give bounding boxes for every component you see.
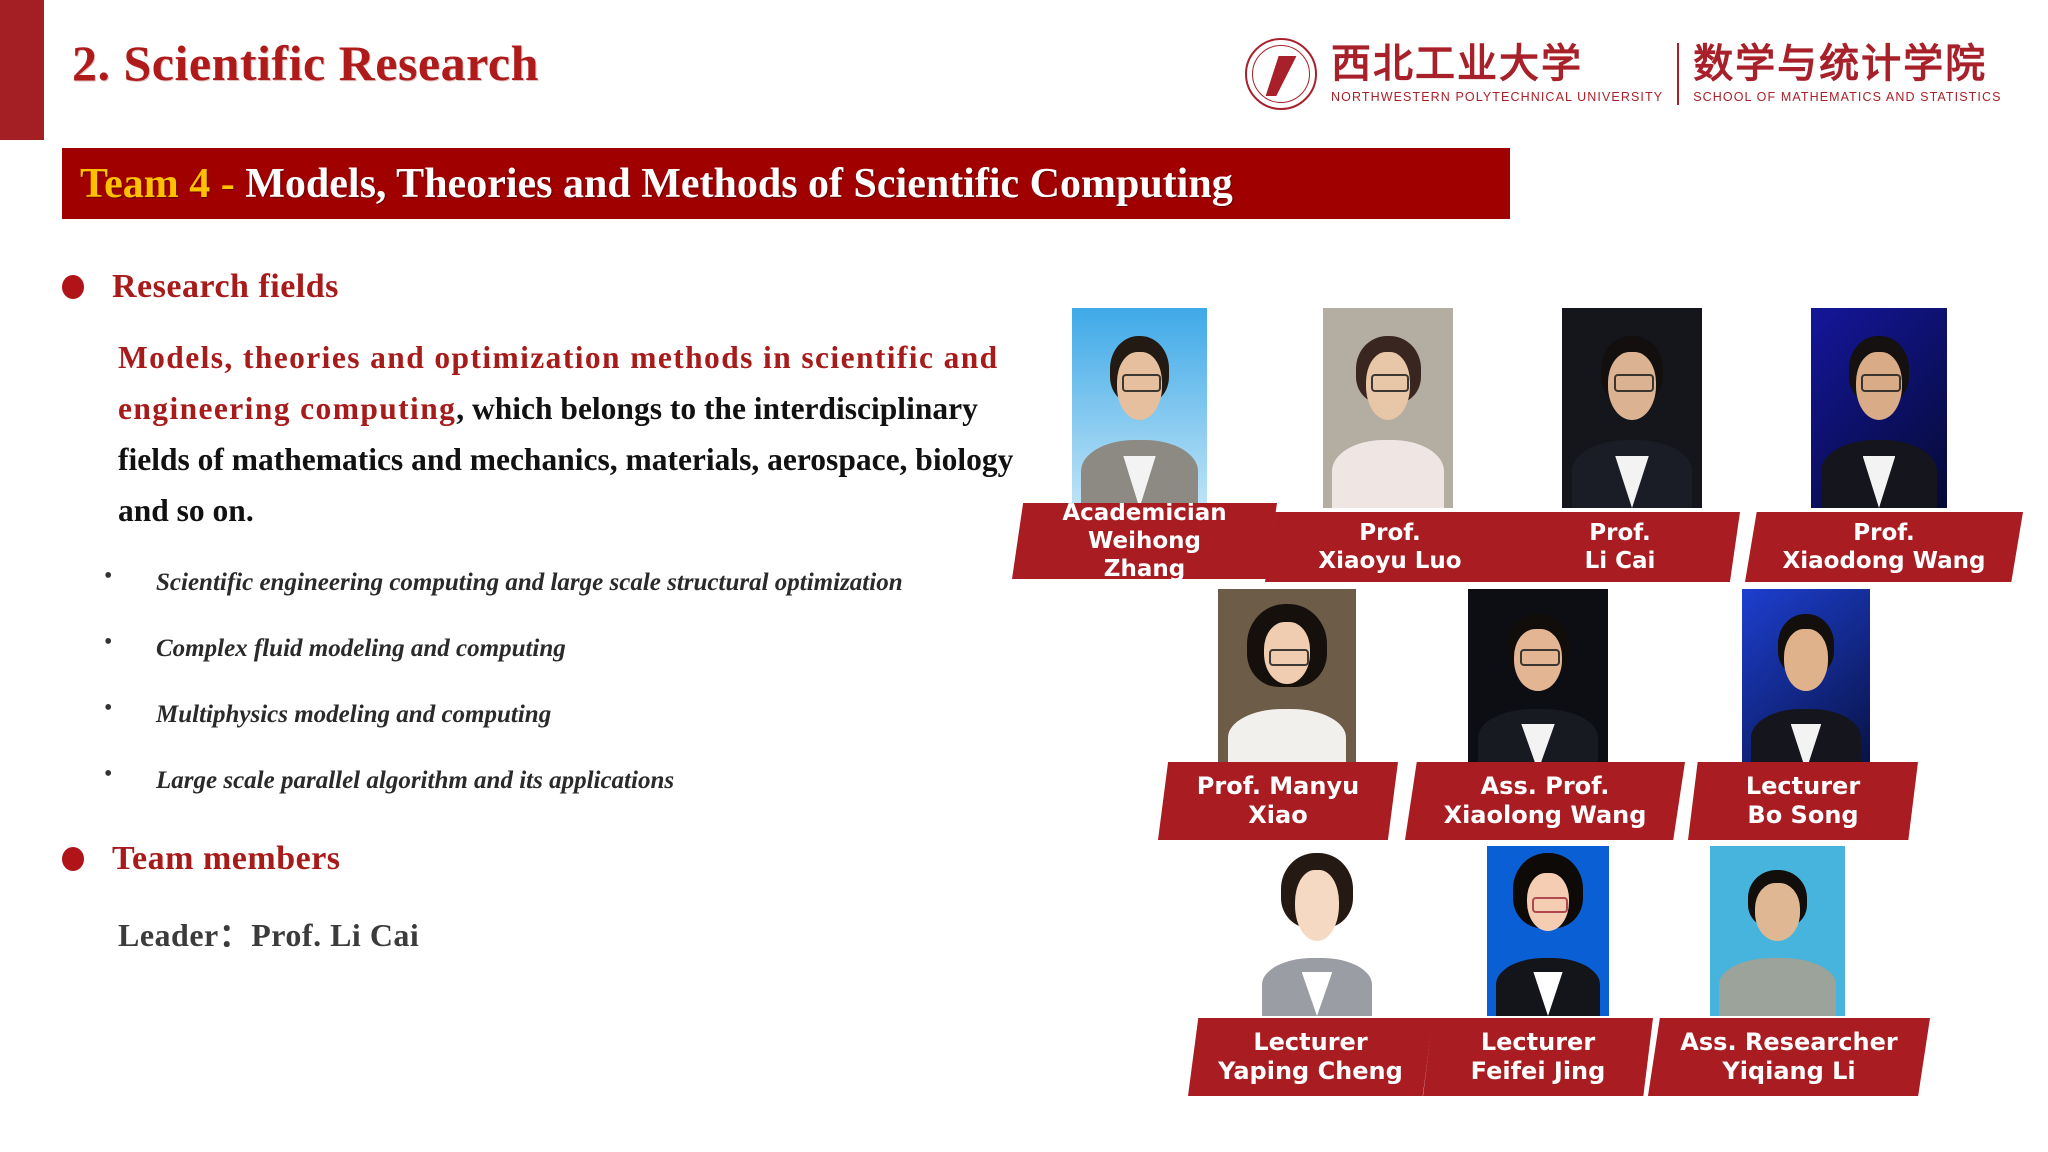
member-name-line: Lecturer <box>1481 1028 1595 1057</box>
team-title-label: Models, Theories and Methods of Scientif… <box>245 161 1232 207</box>
list-item: • Scientific engineering computing and l… <box>96 558 976 608</box>
member-name-line: Academician <box>1062 499 1226 527</box>
logo-school-block: 数学与统计学院 SCHOOL OF MATHEMATICS AND STATIS… <box>1693 44 2001 104</box>
member-name-banner: Lecturer Yaping Cheng <box>1188 1018 1433 1096</box>
logo-school-cn: 数学与统计学院 <box>1693 44 1987 84</box>
list-item: • Large scale parallel algorithm and its… <box>96 756 976 806</box>
member-name-line: Ass. Researcher <box>1680 1028 1897 1057</box>
member-name-banner: Academician Weihong Zhang <box>1012 503 1277 579</box>
member-name-banner: Ass. Prof. Xiaolong Wang <box>1405 762 1685 840</box>
member-photo <box>1218 589 1356 771</box>
research-fields-paragraph: Models, theories and optimization method… <box>118 332 1018 536</box>
member-photo <box>1811 308 1947 508</box>
logo-university-block: 西北工业大学 NORTHWESTERN POLYTECHNICAL UNIVER… <box>1331 44 1663 104</box>
logo-divider <box>1677 43 1679 105</box>
member-name-line: Xiaolong Wang <box>1444 801 1647 830</box>
member-name-line: Zhang <box>1104 555 1185 583</box>
logo-university-cn: 西北工业大学 <box>1331 44 1583 84</box>
list-bullet-icon: • <box>96 690 156 726</box>
member-name-line: Prof. <box>1359 519 1421 547</box>
research-fields-heading: Research fields <box>112 268 339 306</box>
team-number-label: Team 4 - <box>80 161 245 207</box>
member-name-line: Feifei Jing <box>1471 1057 1606 1086</box>
team-title-text: Team 4 - Models, Theories and Methods of… <box>62 160 1233 208</box>
member-name-line: Xiao <box>1248 801 1307 830</box>
bullet-dot-icon <box>62 275 84 299</box>
list-item-label: Scientific engineering computing and lar… <box>156 558 936 608</box>
team-leader-label: Leader：Prof. Li Cai <box>118 910 419 956</box>
member-name-line: Xiaoyu Luo <box>1318 547 1461 575</box>
logo-school-en: SCHOOL OF MATHEMATICS AND STATISTICS <box>1693 90 2001 104</box>
member-name-line: Ass. Prof. <box>1481 772 1610 801</box>
member-name-banner: Prof. Xiaoyu Luo <box>1265 512 1515 582</box>
member-photo <box>1468 589 1608 771</box>
list-bullet-icon: • <box>96 558 156 594</box>
team-title-band: Team 4 - Models, Theories and Methods of… <box>62 148 1510 219</box>
logo-university-en: NORTHWESTERN POLYTECHNICAL UNIVERSITY <box>1331 90 1663 104</box>
list-item-label: Large scale parallel algorithm and its a… <box>156 756 936 806</box>
member-name-line: Weihong <box>1088 527 1201 555</box>
member-photo <box>1323 308 1453 508</box>
member-name-line: Prof. Manyu <box>1197 772 1359 801</box>
research-topics-list: • Scientific engineering computing and l… <box>96 558 976 822</box>
member-name-line: Yiqiang Li <box>1722 1057 1855 1086</box>
member-photo <box>1253 846 1381 1016</box>
member-photo <box>1562 308 1702 508</box>
member-name-banner: Prof. Li Cai <box>1500 512 1740 582</box>
member-name-banner: Prof. Xiaodong Wang <box>1745 512 2023 582</box>
member-name-line: Lecturer <box>1253 1028 1367 1057</box>
member-photo <box>1710 846 1845 1016</box>
list-item: • Multiphysics modeling and computing <box>96 690 976 740</box>
list-item: • Complex fluid modeling and computing <box>96 624 976 674</box>
member-name-line: Yaping Cheng <box>1218 1057 1403 1086</box>
list-item-label: Complex fluid modeling and computing <box>156 624 936 674</box>
research-fields-heading-row: Research fields <box>62 268 339 306</box>
accent-bar <box>0 0 44 140</box>
member-name-banner: Ass. Researcher Yiqiang Li <box>1648 1018 1930 1096</box>
team-members-heading: Team members <box>112 840 341 878</box>
list-bullet-icon: • <box>96 756 156 792</box>
slide-canvas: 2. Scientific Research 西北工业大学 NORTHWESTE… <box>0 0 2048 1152</box>
list-item-label: Multiphysics modeling and computing <box>156 690 936 740</box>
member-photo <box>1072 308 1207 508</box>
member-name-line: Li Cai <box>1585 547 1656 575</box>
npu-seal-icon <box>1245 38 1317 110</box>
member-name-line: Bo Song <box>1747 801 1858 830</box>
member-name-banner: Lecturer Feifei Jing <box>1423 1018 1653 1096</box>
team-members-heading-row: Team members <box>62 840 341 878</box>
member-photo <box>1487 846 1609 1016</box>
member-name-banner: Lecturer Bo Song <box>1688 762 1918 840</box>
member-name-banner: Prof. Manyu Xiao <box>1158 762 1398 840</box>
member-photo <box>1742 589 1870 771</box>
member-name-line: Prof. <box>1853 519 1915 547</box>
member-name-line: Xiaodong Wang <box>1783 547 1986 575</box>
list-bullet-icon: • <box>96 624 156 660</box>
bullet-dot-icon <box>62 847 84 871</box>
member-name-line: Prof. <box>1589 519 1651 547</box>
member-name-line: Lecturer <box>1746 772 1860 801</box>
page-title: 2. Scientific Research <box>72 34 539 92</box>
university-logo: 西北工业大学 NORTHWESTERN POLYTECHNICAL UNIVER… <box>1245 26 2035 122</box>
